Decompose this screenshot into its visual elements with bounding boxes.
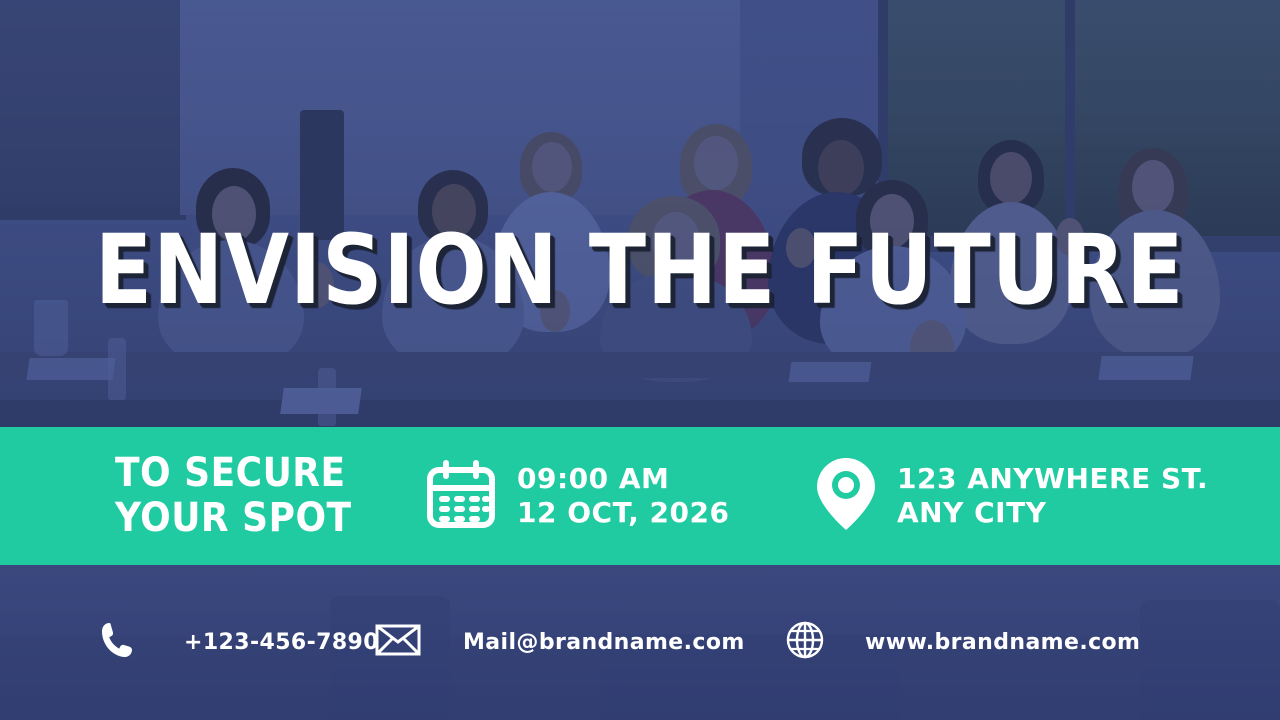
phone-icon (100, 621, 134, 664)
location-pin-icon (815, 456, 877, 537)
contact-footer: +123-456-7890 Mail@brandname.com (0, 565, 1280, 720)
date-text: 09:00 AM 12 OCT, 2026 (517, 462, 730, 530)
globe-icon (785, 620, 825, 665)
page-title: ENVISION THE FUTURE (95, 222, 1185, 318)
event-date: 12 OCT, 2026 (517, 496, 730, 530)
website-url: www.brandname.com (865, 630, 1140, 655)
location-block: 123 ANYWHERE ST. ANY CITY (790, 456, 1280, 537)
date-block: 09:00 AM 12 OCT, 2026 (370, 458, 790, 535)
cta-block: TO SECURE YOUR SPOT (0, 451, 370, 541)
cta-line-1: TO SECURE (115, 451, 352, 496)
phone-contact[interactable]: +123-456-7890 (0, 621, 365, 664)
headline-wrap: ENVISION THE FUTURE (0, 222, 1280, 318)
event-details-band: TO SECURE YOUR SPOT (0, 427, 1280, 565)
cta-text: TO SECURE YOUR SPOT (115, 451, 352, 541)
phone-number: +123-456-7890 (184, 630, 379, 655)
location-text: 123 ANYWHERE ST. ANY CITY (897, 462, 1208, 530)
address-line-1: 123 ANYWHERE ST. (897, 462, 1208, 496)
calendar-icon (425, 458, 497, 535)
event-time: 09:00 AM (517, 462, 730, 496)
address-line-2: ANY CITY (897, 496, 1208, 530)
website-contact[interactable]: www.brandname.com (785, 620, 1280, 665)
cta-line-2: YOUR SPOT (115, 496, 352, 541)
event-poster: ENVISION THE FUTURE TO SECURE YOUR SPOT (0, 0, 1280, 720)
envelope-icon (375, 623, 421, 662)
email-address: Mail@brandname.com (463, 630, 745, 655)
email-contact[interactable]: Mail@brandname.com (365, 623, 785, 662)
